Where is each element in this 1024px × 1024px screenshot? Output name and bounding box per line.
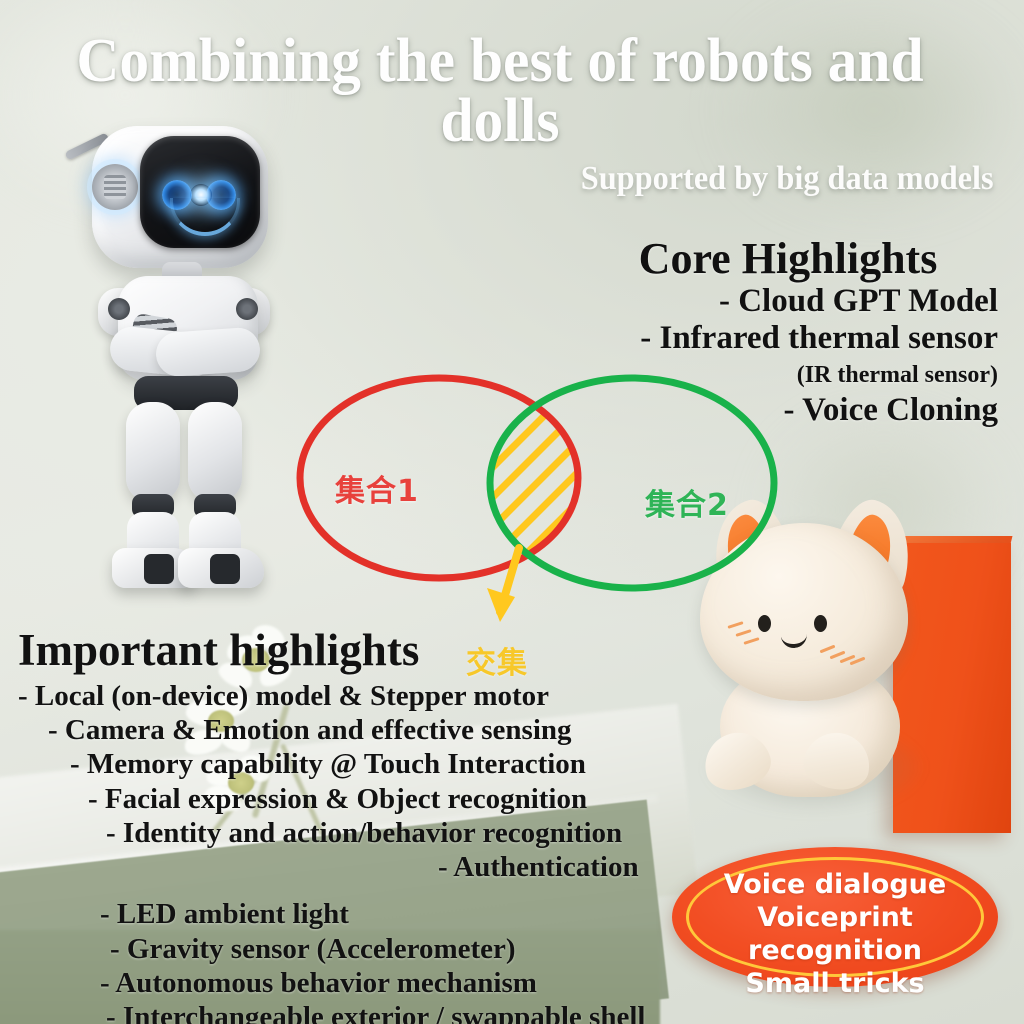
list-item: - Memory capability @ Touch Interaction: [18, 747, 708, 781]
robot-figure: [70, 120, 300, 590]
poster-canvas: 集合1 集合2 交集 Combining the best of robots …: [0, 0, 1024, 1024]
badge-text-block: Voice dialogue Voiceprint recognition Sm…: [672, 869, 998, 1001]
core-highlights-item: - Voice Cloning: [578, 393, 998, 429]
list-item: - Facial expression & Object recognition: [18, 782, 708, 816]
robot-joint-left: [108, 298, 130, 320]
robot-thigh-right: [188, 402, 242, 502]
cat-eye-right: [814, 615, 827, 632]
important-highlights-heading: Important highlights: [18, 628, 708, 673]
robot-face-screen: [140, 136, 260, 248]
list-item: - Camera & Emotion and effective sensing: [18, 713, 708, 747]
badge-line: Voiceprint recognition: [672, 902, 998, 968]
list-item: - LED ambient light: [18, 897, 708, 931]
list-item: - Identity and action/behavior recogniti…: [18, 816, 708, 850]
venn-arrow-head: [487, 588, 515, 622]
robot-joint-right: [236, 298, 258, 320]
core-highlights-item: - Cloud GPT Model: [578, 284, 998, 320]
robot-thigh-left: [126, 402, 180, 502]
badge-line: Voice dialogue: [672, 869, 998, 902]
voice-features-badge: Voice dialogue Voiceprint recognition Sm…: [672, 847, 998, 987]
important-highlights-block: Important highlights - Local (on-device)…: [18, 628, 708, 1024]
core-highlights-note-row: (IR thermal sensor): [578, 355, 998, 391]
cat-eye-left: [758, 615, 771, 632]
badge-line: Small tricks: [672, 968, 998, 1001]
core-highlights-item: - Infrared thermal sensor: [578, 321, 998, 357]
list-item: - Interchangeable exterior / swappable s…: [18, 1000, 708, 1024]
list-spacer: [18, 884, 708, 897]
list-item: - Gravity sensor (Accelerometer): [18, 932, 708, 966]
robot-arm-right: [155, 326, 262, 377]
page-subtitle: Supported by big data models: [581, 160, 994, 198]
core-highlights-note: (IR thermal sensor): [797, 362, 998, 388]
robot-smile: [170, 198, 240, 236]
venn-label-set2: 集合2: [645, 480, 729, 524]
important-highlights-list: - Local (on-device) model & Stepper moto…: [18, 679, 708, 1024]
list-item: - Local (on-device) model & Stepper moto…: [18, 679, 708, 713]
core-highlights-block: Core Highlights - Cloud GPT Model - Infr…: [578, 236, 998, 428]
list-item: - Authentication: [18, 850, 708, 884]
robot-foot-band-left: [144, 554, 174, 584]
venn-intersection-arrow: [500, 548, 519, 612]
core-highlights-heading: Core Highlights: [578, 236, 998, 282]
page-title: Combining the best of robots and dolls: [20, 32, 980, 151]
robot-foot-band-right: [210, 554, 240, 584]
robot-speaker-grille: [104, 175, 126, 199]
cat-plush-figure: [686, 495, 946, 825]
cat-head: [700, 523, 908, 701]
list-item: - Autonomous behavior mechanism: [18, 966, 708, 1000]
venn-label-set1: 集合1: [335, 466, 419, 510]
